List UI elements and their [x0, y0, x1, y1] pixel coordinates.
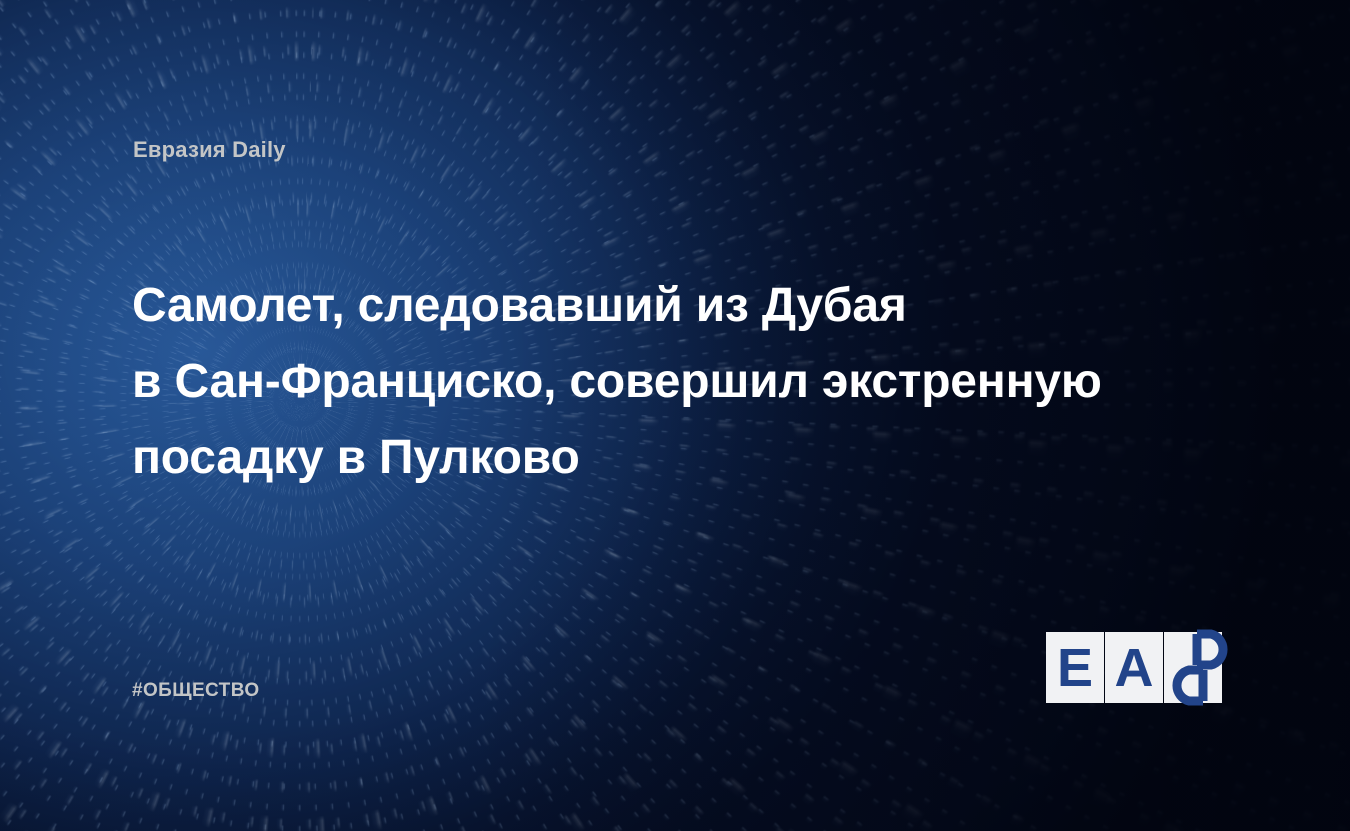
logo-tile-e: E	[1046, 632, 1104, 703]
headline-line-1: Самолет, следовавший из Дубая	[132, 268, 1262, 344]
logo-letter-a: A	[1105, 632, 1163, 703]
brand-name: Евразия Daily	[133, 137, 286, 163]
logo-d-mark	[1164, 632, 1222, 703]
news-share-card: Евразия Daily Самолет, следовавший из Ду…	[0, 0, 1350, 831]
logo-d-glyph-bottom-icon	[1164, 668, 1222, 703]
category-tag[interactable]: #ОБЩЕСТВО	[132, 680, 260, 702]
eadaily-logo[interactable]: E A	[1046, 632, 1222, 703]
headline: Самолет, следовавший из Дубая в Сан-Фран…	[132, 268, 1262, 496]
logo-d-mark-bottom-half	[1164, 668, 1222, 703]
logo-tile-d	[1164, 632, 1222, 703]
headline-line-3: посадку в Пулково	[132, 420, 1262, 496]
logo-letter-e: E	[1046, 632, 1104, 703]
logo-tile-a: A	[1105, 632, 1163, 703]
headline-line-2: в Сан-Франциско, совершил экстренную	[132, 344, 1262, 420]
logo-d-mark-top-half	[1164, 632, 1222, 667]
logo-d-glyph-top-icon	[1164, 632, 1222, 667]
